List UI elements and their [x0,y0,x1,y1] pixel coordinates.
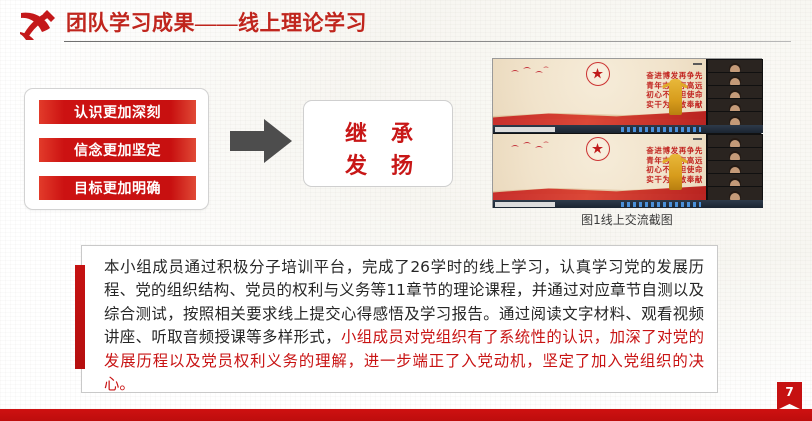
hammer-and-sickle-icon [17,7,59,41]
participant-thumbnail [708,99,762,111]
summary-accent-bar [75,265,85,369]
birds-decoration-icon [509,65,555,79]
inherit-line-1: 继 承 [304,116,454,148]
participant-thumbnail [708,86,762,98]
arrow-right-icon [230,117,292,165]
participant-thumbnail [708,112,762,124]
outcome-item-2: 信念更加坚定 [39,138,196,162]
slide-text-block-1: 奋进博发再争先 青年志当存高远 初心不改担使命 实干为国敢奉献 [611,71,703,109]
meeting-screenshot-figure: 奋进博发再争先 青年志当存高远 初心不改担使命 实干为国敢奉献 [492,58,762,208]
inherit-line-2: 发 扬 [304,148,454,180]
footer-bar [0,409,812,421]
participant-thumbnail-strip-2 [707,134,763,200]
inherit-card: 继 承 发 扬 [303,100,453,187]
slide-line-2: 青年志当存高远 [611,81,703,91]
participant-thumbnail [708,73,762,85]
slide-text-block-2: 奋进博发再争先 青年志当存高远 初心不改担使命 实干为国敢奉献 [611,146,703,184]
outcome-item-1: 认识更加深刻 [39,100,196,124]
slide-line-4: 实干为国敢奉献 [611,175,703,185]
figure-caption: 图1线上交流截图 [492,211,762,228]
mascot-figure-icon [669,79,682,115]
minimize-icon [693,138,702,140]
outcomes-card: 认识更加深刻 信念更加坚定 目标更加明确 [24,88,209,210]
participant-thumbnail [708,60,762,72]
taskbar-icons [621,127,701,132]
page-number: 7 [777,385,802,399]
taskbar-2 [493,200,763,208]
party-emblem-icon [586,62,610,86]
slide-line-3: 初心不改担使命 [611,90,703,100]
taskbar-search-box [495,202,555,207]
outcome-item-3: 目标更加明确 [39,176,196,200]
slide-header: 团队学习成果——线上理论学习 [0,0,812,46]
party-emblem-icon [586,137,610,161]
participant-thumbnail [708,187,762,199]
taskbar-search-box [495,127,555,132]
participant-thumbnail [708,161,762,173]
shared-slide-2: 奋进博发再争先 青年志当存高远 初心不改担使命 实干为国敢奉献 [493,134,706,200]
slide-line-3: 初心不改担使命 [611,165,703,175]
participant-thumbnail-strip-1 [707,59,763,125]
title-divider [64,41,791,42]
slide-line-4: 实干为国敢奉献 [611,100,703,110]
summary-paragraph: 本小组成员通过积极分子培训平台，完成了26学时的线上学习，认真学习党的发展历程、… [104,256,704,396]
mascot-figure-icon [669,154,682,190]
birds-decoration-icon [509,140,555,154]
taskbar-icons [621,202,701,207]
participant-thumbnail [708,148,762,160]
slide-line-1: 奋进博发再争先 [611,146,703,156]
minimize-icon [693,63,702,65]
slide-line-1: 奋进博发再争先 [611,71,703,81]
taskbar-1 [493,125,763,133]
meeting-screenshot-2: 奋进博发再争先 青年志当存高远 初心不改担使命 实干为国敢奉献 [493,134,763,208]
slide-canvas: 团队学习成果——线上理论学习 认识更加深刻 信念更加坚定 目标更加明确 继 承 … [0,0,812,421]
participant-thumbnail [708,174,762,186]
participant-thumbnail [708,135,762,147]
slide-line-2: 青年志当存高远 [611,156,703,166]
page-title: 团队学习成果——线上理论学习 [66,8,367,38]
shared-slide-1: 奋进博发再争先 青年志当存高远 初心不改担使命 实干为国敢奉献 [493,59,706,125]
meeting-screenshot-1: 奋进博发再争先 青年志当存高远 初心不改担使命 实干为国敢奉献 [493,59,763,133]
